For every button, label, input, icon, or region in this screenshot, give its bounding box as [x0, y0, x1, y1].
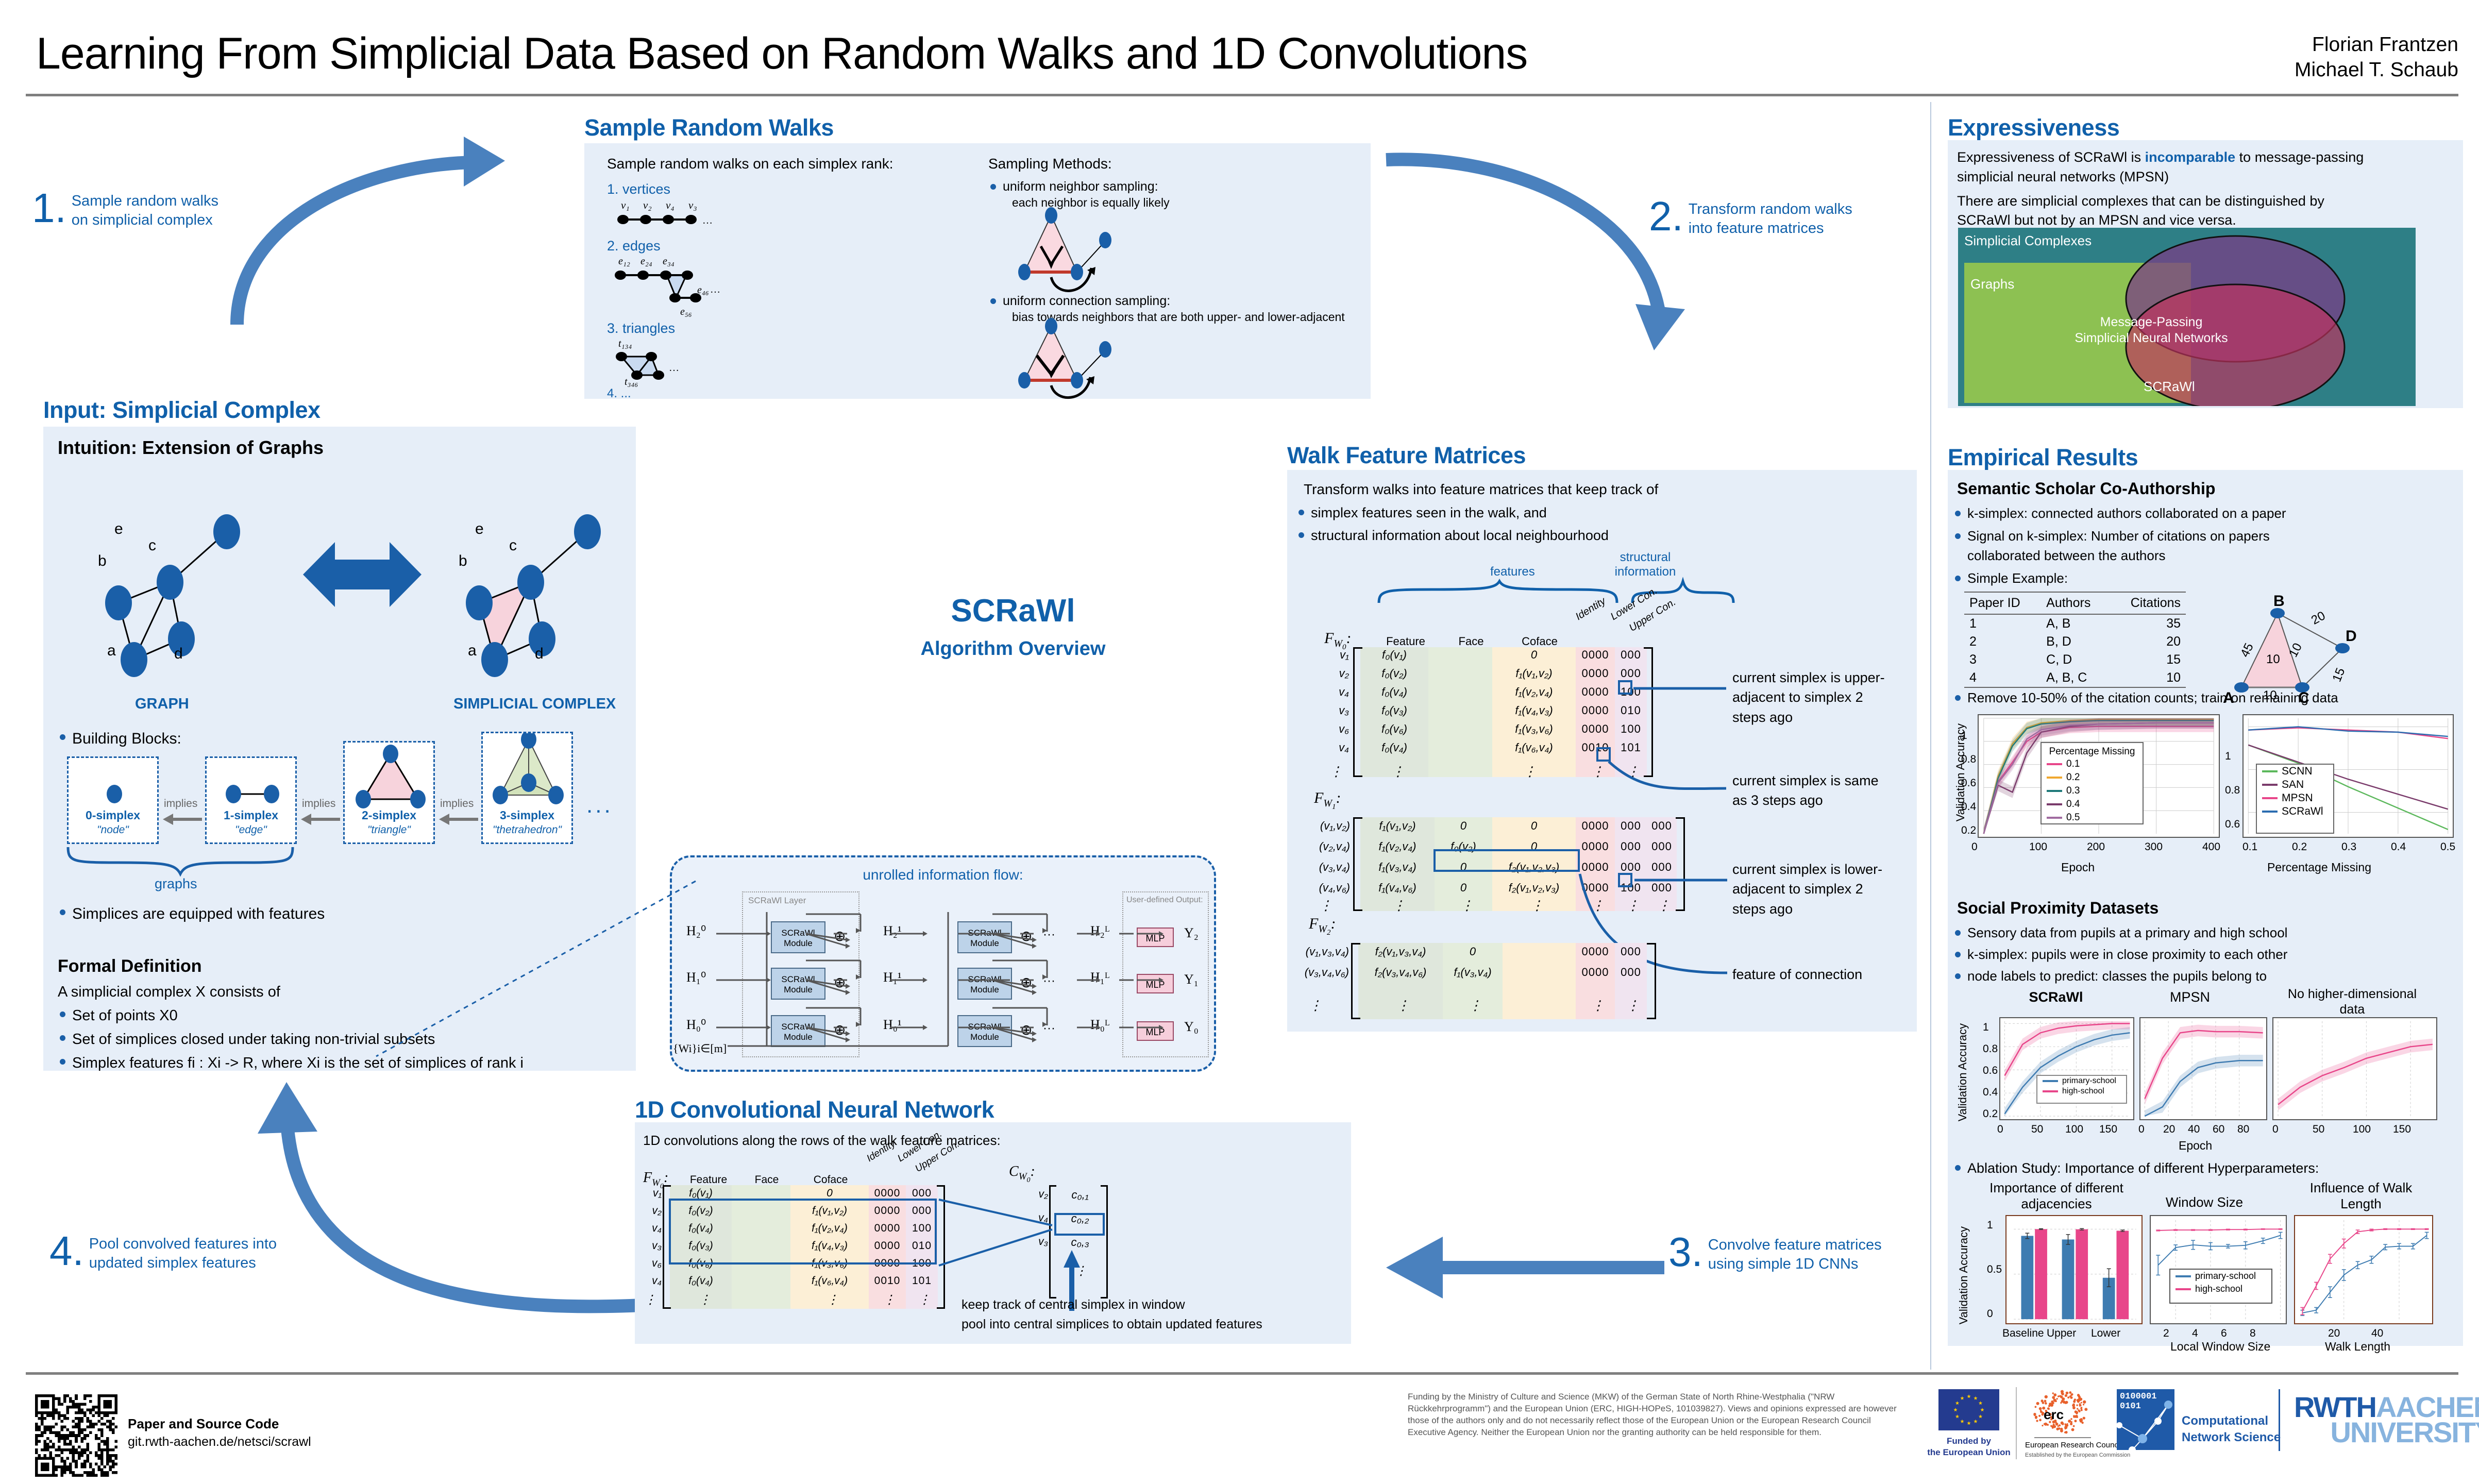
- graph-node-a: a: [107, 642, 116, 660]
- block-2-label: 2-simplex: [345, 808, 433, 822]
- chart-social-mpsn: [2139, 1017, 2267, 1120]
- eu-logo-label: Funded by the European Union: [1927, 1436, 2011, 1458]
- legend-item: 0.3: [2042, 784, 2143, 798]
- empirical-results-title: Empirical Results: [1948, 444, 2138, 471]
- chart1-ytick: 0.6: [1961, 777, 1976, 789]
- chart2-xtick: 0.4: [2391, 841, 2406, 853]
- fw0-vdots: ⋮: [1391, 764, 1402, 780]
- cnn-col-coface: Coface: [798, 1174, 864, 1186]
- social-panel-title-mpsn: MPSN: [2138, 989, 2241, 1005]
- cns-bits: 0100001 0101: [2120, 1392, 2156, 1411]
- fw1-row-label: (v₂,v₄): [1288, 840, 1350, 853]
- legend-item: high-school: [2170, 1283, 2271, 1295]
- chart2-xtick: 0.1: [2242, 841, 2257, 853]
- srw-rank-2: 2. edges: [607, 237, 661, 256]
- brand-subtitle: Algorithm Overview: [858, 638, 1168, 660]
- fw1-cell-lower: 000: [1615, 819, 1647, 833]
- table-cell: 10: [2110, 669, 2186, 687]
- expr-text-a: Expressiveness of SCRaWl is: [1957, 149, 2145, 165]
- chart3-legend: primary-schoolhigh-school: [2036, 1075, 2127, 1104]
- page-title: Learning From Simplicial Data Based on R…: [36, 28, 1527, 79]
- social-xlabel: Epoch: [2179, 1139, 2212, 1153]
- legend-item: MPSN: [2257, 791, 2333, 805]
- ablation-title-window: Window Size: [2143, 1194, 2266, 1210]
- cnn-note-2: pool into central simplices to obtain up…: [962, 1316, 1262, 1333]
- fw1-callout-2: feature of connection: [1732, 965, 1918, 984]
- chart-ablation-adjacency: [2005, 1215, 2143, 1324]
- chart1-xtick: 0: [1971, 841, 1978, 853]
- cnn-vdots: ⋮: [827, 1292, 837, 1307]
- legend-label: 0.5: [2066, 812, 2080, 823]
- chart3-legend-items: primary-schoolhigh-school: [2037, 1076, 2126, 1097]
- chart1-ytick: 0.4: [1961, 801, 1976, 813]
- graphs-brace-label: graphs: [155, 876, 197, 892]
- vertex-label-v3: v₃: [688, 199, 697, 212]
- sc-node-d: d: [535, 645, 544, 663]
- fw1-row-label: (v₃,v₄): [1288, 861, 1350, 874]
- formal-definition-heading: Formal Definition: [58, 956, 202, 976]
- fw0-cell-coface: f₁(v₁,v₂): [1492, 667, 1576, 680]
- fw0-cell-feature: f₀(v₆): [1360, 722, 1428, 736]
- table-cell: 20: [2110, 633, 2186, 651]
- legend-item: 0.1: [2042, 757, 2143, 771]
- chart3-ytick: 0.6: [1983, 1065, 1998, 1077]
- edge-label-e12: e₁₂: [618, 256, 630, 267]
- fw0-cell-coface: f₁(v₆,v₄): [1492, 741, 1576, 754]
- chart6-xtick: Lower: [2091, 1327, 2120, 1340]
- implies-label-3: implies: [440, 798, 474, 810]
- legend-label: 0.2: [2066, 772, 2080, 783]
- block-0-alias: "node": [69, 824, 157, 836]
- chart1-xtick: 200: [2087, 841, 2105, 853]
- expressiveness-title: Expressiveness: [1948, 114, 2119, 141]
- table-body: 1A, B352B, D203C, D154A, B, C10: [1964, 614, 2186, 687]
- cnn-cell-upper: 000: [906, 1187, 938, 1200]
- features-bullet: Simplices are equipped with features: [58, 903, 325, 925]
- sc-node-e: e: [475, 520, 484, 538]
- legend-label: MPSN: [2282, 792, 2313, 804]
- chart4-xtick: 0: [2138, 1123, 2145, 1136]
- graph-node-b: b: [98, 552, 107, 570]
- author-2: Michael T. Schaub: [2295, 57, 2458, 82]
- fw0-cell-feature: f₀(v₄): [1360, 685, 1428, 699]
- authors: Florian Frantzen Michael T. Schaub: [2295, 32, 2458, 82]
- legend-swatch: [2176, 1288, 2191, 1290]
- sampling-method-1-desc: each neighbor is equally likely: [1012, 195, 1170, 210]
- cnn-vdots: ⋮: [918, 1292, 929, 1307]
- intuition-heading: Intuition: Extension of Graphs: [58, 437, 324, 459]
- flow-arrow-2: [1386, 144, 1706, 412]
- eu-flag: [1938, 1389, 1999, 1430]
- table-row: 4A, B, C10: [1964, 669, 2186, 687]
- chart5-xtick: 100: [2353, 1123, 2371, 1136]
- fw2-vdots: ⋮: [1469, 998, 1479, 1014]
- poster-root: Learning From Simplicial Data Based on R…: [0, 0, 2479, 1484]
- cnn-col-feature: Feature: [680, 1174, 737, 1186]
- chart7-xtick: 8: [2250, 1327, 2256, 1340]
- fw1-row-label: (v₄,v₆): [1288, 881, 1350, 895]
- cnn-note-1: keep track of central simplex in window: [962, 1296, 1185, 1313]
- fw0-cell-identity: 0000: [1576, 704, 1615, 717]
- chart1-xtick: 400: [2202, 841, 2220, 853]
- chart1-xtick: 300: [2145, 841, 2163, 853]
- footer-divider-2: [2279, 1389, 2280, 1451]
- chart4-xtick: 20: [2163, 1123, 2175, 1136]
- qr-title: Paper and Source Code: [128, 1416, 279, 1432]
- coauthor-node-B: B: [2273, 593, 2285, 610]
- chart2-xtick: 0.2: [2292, 841, 2307, 853]
- table-cell: 15: [2110, 651, 2186, 669]
- fw2-cell-face: f₁(v₃,v₄): [1443, 966, 1503, 979]
- fw1-cell-lower: 000: [1615, 840, 1647, 853]
- legend-item: SAN: [2257, 778, 2333, 791]
- legend-swatch: [2262, 770, 2278, 772]
- legend-label: SCNN: [2282, 765, 2313, 778]
- chart7-legend-items: primary-schoolhigh-school: [2170, 1270, 2271, 1295]
- chart5-xtick: 50: [2313, 1123, 2324, 1136]
- fw1-cell-face: 0: [1435, 819, 1492, 833]
- chart2-xtick: 0.3: [2341, 841, 2356, 853]
- fw1-cell-upper: 000: [1647, 840, 1677, 853]
- chart1-legend-items: 0.10.20.30.40.5: [2042, 757, 2143, 824]
- fw0-cell-identity: 0000: [1576, 722, 1615, 736]
- chart1-xtick: 100: [2029, 841, 2047, 853]
- chart1-ytick: 1: [1961, 730, 1967, 742]
- legend-item: 0.2: [2042, 771, 2143, 784]
- chart2-legend-items: SCNNSANMPSNSCRaWl: [2257, 765, 2333, 818]
- social-bullet-3: node labels to predict: classes the pupi…: [1953, 967, 2267, 986]
- fw0-callout-2: current simplex is same as 3 steps ago: [1732, 771, 1918, 811]
- author-1: Florian Frantzen: [2295, 32, 2458, 57]
- fw0-cell-coface: f₁(v₃,v₆): [1492, 722, 1576, 736]
- chart1-legend-title: Percentage Missing: [2042, 746, 2143, 757]
- wfm-intro: Transform walks into feature matrices th…: [1304, 480, 1658, 499]
- venn-mpsn-label: Message-Passing Simplicial Neural Networ…: [2059, 314, 2244, 347]
- edge-label-e34: e₃₄: [663, 256, 674, 267]
- fw0-rowdots: ⋮: [1329, 764, 1340, 780]
- fw0-cell-upper: 000: [1615, 667, 1647, 680]
- legend-swatch: [2047, 803, 2062, 805]
- dotted-connector: [361, 876, 701, 1072]
- chart6-xtick: Upper: [2047, 1327, 2076, 1340]
- triangle-walk-diagram: …: [612, 350, 715, 386]
- social-bullet-2: k-simplex: pupils were in close proximit…: [1953, 945, 2287, 965]
- legend-swatch: [2047, 763, 2062, 765]
- walk-feature-matrices-title: Walk Feature Matrices: [1287, 442, 1526, 469]
- chart2-legend: SCNNSANMPSNSCRaWl: [2256, 764, 2334, 834]
- semantic-scholar-heading: Semantic Scholar Co-Authorship: [1957, 479, 2215, 498]
- qr-code[interactable]: [35, 1394, 117, 1477]
- table-cell: 2: [1964, 633, 2041, 651]
- table-cell: 3: [1964, 651, 2041, 669]
- erc-sub: European Research Council: [2025, 1441, 2122, 1449]
- chart1-legend: Percentage Missing 0.10.20.30.40.5: [2040, 742, 2144, 824]
- erc-sub2: Established by the European Commission: [2025, 1452, 2130, 1458]
- chart2-ytick: 1: [2225, 750, 2231, 763]
- header-divider: [26, 94, 2458, 96]
- expr-text-b: to message-passing: [2235, 149, 2364, 165]
- block-1-alias: "edge": [207, 824, 295, 836]
- chart5-xtick: 150: [2393, 1123, 2411, 1136]
- matrix-fw2-name: FW2:: [1309, 915, 1336, 937]
- fw1-cell-coface: f₂(v₁,v₂,v₃): [1492, 881, 1576, 895]
- chart8-xtick: 20: [2328, 1327, 2340, 1340]
- chart2-xtick: 0.5: [2440, 841, 2455, 853]
- fw1-cell-upper: 000: [1647, 861, 1677, 874]
- table-cell: 1: [1964, 614, 2041, 633]
- chart8-xtick: 40: [2371, 1327, 2383, 1340]
- chart6-ytick: 0.5: [1987, 1263, 2002, 1276]
- footer-divider: [26, 1372, 2458, 1375]
- fw0-callout-1: current simplex is upper- adjacent to si…: [1732, 668, 1918, 727]
- table-row: 2B, D20: [1964, 633, 2186, 651]
- fw1-cell-feature: f₁(v₁,v₂): [1360, 819, 1435, 833]
- fw2-cell-feature: f₂(v₃,v₄,v₆): [1358, 966, 1443, 979]
- chart3-ytick: 0.2: [1983, 1108, 1998, 1120]
- sc-node-c: c: [509, 537, 517, 554]
- graph-node-c: c: [148, 537, 156, 554]
- rwth-logo: RWTHAACHEN UNIVERSITY: [2294, 1390, 2479, 1449]
- legend-swatch: [2047, 817, 2062, 819]
- block-3-label: 3-simplex: [483, 808, 571, 822]
- fw0-row-label: v₆: [1317, 722, 1349, 736]
- sc-node-a: a: [468, 642, 477, 660]
- social-proximity-heading: Social Proximity Datasets: [1957, 899, 2158, 918]
- legend-label: high-school: [2195, 1284, 2242, 1294]
- chart7-legend: primary-schoolhigh-school: [2169, 1269, 2272, 1304]
- fw0-cell-coface: f₁(v₄,v₃): [1492, 704, 1576, 717]
- legend-swatch: [2043, 1080, 2058, 1082]
- erc-logo-text: erc: [2044, 1407, 2064, 1423]
- implies-arrow-2: [301, 813, 341, 825]
- fw0-cell-feature: f₀(v₂): [1360, 667, 1428, 680]
- chart4-xtick: 60: [2213, 1123, 2224, 1136]
- cnn-cell-feature: f₀(v₄): [670, 1275, 732, 1287]
- fw0-col-coface: Coface: [1504, 635, 1576, 648]
- chart1-ytick: 0.8: [1961, 753, 1976, 766]
- coauthor-face-10: 10: [2266, 652, 2280, 667]
- ablation-title-walk: Influence of Walk Length: [2284, 1180, 2438, 1212]
- chart3-ytick: 0.8: [1983, 1043, 1998, 1055]
- uniform-connection-diagram: [1000, 324, 1154, 406]
- graph-node-d: d: [174, 645, 183, 663]
- cnn-vdots: ⋮: [699, 1292, 709, 1307]
- step-3-text: Convolve feature matrices using simple 1…: [1668, 1236, 1957, 1274]
- cnn-cell-coface: f₁(v₆,v₄): [790, 1275, 869, 1287]
- expressiveness-para-1c: simplicial neural networks (MPSN): [1957, 168, 2169, 187]
- fw0-row-label: v₃: [1317, 704, 1349, 717]
- fw1-cell-feature: f₁(v₃,v₄): [1360, 861, 1435, 874]
- chart2-ytick: 0.8: [2225, 784, 2240, 797]
- cnn-row-label: v₄: [632, 1222, 662, 1235]
- table-cell: 4: [1964, 669, 2041, 687]
- fw0-cell-feature: f₀(v₃): [1360, 704, 1428, 717]
- chart1-ytick: 0.2: [1961, 824, 1976, 837]
- brace-features-label: features: [1490, 565, 1535, 579]
- step-1-number: 1.: [32, 192, 66, 225]
- fw1-row-label: (v₁,v₂): [1288, 819, 1350, 833]
- fw1-cell-face: 0: [1435, 881, 1492, 895]
- ablation-bullet: Ablation Study: Importance of different …: [1953, 1158, 2319, 1178]
- chart1-xlabel: Epoch: [2061, 861, 2095, 874]
- implies-label-2: implies: [302, 798, 335, 810]
- brand-title: SCRaWl: [858, 593, 1168, 629]
- fw2-cell-face: 0: [1443, 945, 1503, 958]
- chart5-xtick: 0: [2272, 1123, 2279, 1136]
- chart-social-nohigh: [2272, 1017, 2437, 1120]
- edge-label-e24: e₂₄: [640, 256, 652, 267]
- coauthor-node-D: D: [2346, 628, 2357, 645]
- chart7-xtick: 2: [2163, 1327, 2169, 1340]
- semantic-bullet-3: Simple Example:: [1953, 569, 2068, 588]
- fw2-row-label: (v₃,v₄,v₆): [1272, 966, 1349, 979]
- chart6-ytick: 0: [1987, 1308, 1993, 1320]
- legend-swatch: [2262, 784, 2278, 786]
- chart3-ytick: 1: [1983, 1021, 1989, 1034]
- fw2-cell-identity: 0000: [1576, 945, 1615, 958]
- cnn-cell-feature: f₀(v₁): [670, 1187, 732, 1200]
- block-2-simplex: 2-simplex "triangle": [343, 741, 435, 844]
- vertex-walk-diagram: …: [616, 212, 724, 229]
- formal-intro: A simplicial complex X consists of: [58, 982, 280, 1002]
- chart7-xlabel: Local Window Size: [2170, 1340, 2270, 1354]
- social-bullet-1: Sensory data from pupils at a primary an…: [1953, 923, 2287, 943]
- fw2-stripe-coface: [1503, 943, 1576, 1019]
- chart3-xtick: 0: [1997, 1123, 2003, 1136]
- cnn-row-label: v₆: [632, 1257, 662, 1270]
- fw0-cell-identity: 0000: [1576, 667, 1615, 680]
- table-row: 3C, D15: [1964, 651, 2186, 669]
- chart3-xtick: 150: [2099, 1123, 2117, 1136]
- srw-rank-3: 3. triangles: [607, 319, 675, 338]
- expressiveness-para-1: Expressiveness of SCRaWl is incomparable…: [1957, 148, 2452, 167]
- cnn-row-label: v₂: [632, 1205, 662, 1217]
- cnn-out-value: c₀,₁: [1056, 1188, 1104, 1202]
- legend-item: SCRaWl: [2257, 805, 2333, 818]
- legend-swatch: [2043, 1090, 2058, 1092]
- remove-bullet: Remove 10-50% of the citation counts; tr…: [1953, 688, 2338, 708]
- svg-text:…: …: [669, 362, 679, 374]
- fw2-vdots: ⋮: [1626, 998, 1637, 1014]
- chart7-xtick: 4: [2192, 1327, 2198, 1340]
- vertex-label-v2: v₂: [643, 199, 652, 212]
- legend-item: SCNN: [2257, 765, 2333, 778]
- vertex-label-v1: v₁: [621, 199, 630, 212]
- legend-swatch: [2047, 790, 2062, 792]
- block-1-simplex: 1-simplex "edge": [205, 756, 297, 844]
- graph-node-e: e: [114, 520, 123, 538]
- fw0-stripe-face: [1428, 647, 1492, 777]
- fw1-cell-upper: 000: [1647, 819, 1677, 833]
- fw0-highlight-identity: [1596, 747, 1611, 762]
- fw0-cell-feature: f₀(v₄): [1360, 741, 1428, 754]
- fw2-vdots: ⋮: [1396, 998, 1407, 1014]
- svg-text:…: …: [702, 215, 713, 226]
- fw2-cell-lower: 000: [1615, 966, 1647, 979]
- step-3: 3. Convolve feature matrices using simpl…: [1668, 1236, 1957, 1274]
- fw1-cell-identity: 0000: [1576, 840, 1615, 853]
- table-header-row: Paper IDAuthorsCitations: [1964, 592, 2186, 614]
- chart3-xtick: 50: [2031, 1123, 2043, 1136]
- triangle-label-t134: t₁₃₄: [618, 338, 632, 350]
- chart6-xtick: Baseline: [2002, 1327, 2044, 1340]
- sampling-method-2: uniform connection sampling:: [988, 292, 1170, 310]
- qr-url[interactable]: git.rwth-aachen.de/netsci/scrawl: [128, 1435, 311, 1449]
- fw0-row-label: v₄: [1317, 685, 1349, 699]
- implies-arrow-3: [439, 813, 479, 825]
- cnn-cell-coface: 0: [790, 1187, 869, 1200]
- fw2-cell-feature: f₂(v₁,v₃,v₄): [1358, 945, 1443, 958]
- expressiveness-para-2: There are simplicial complexes that can …: [1957, 192, 2324, 230]
- cnn-title: 1D Convolutional Neural Network: [635, 1097, 994, 1123]
- fw0-row-label: v₂: [1317, 667, 1349, 680]
- legend-swatch: [2176, 1275, 2191, 1277]
- fw0-col-feature: Feature: [1375, 635, 1437, 648]
- legend-label: 0.3: [2066, 785, 2080, 797]
- implies-label-1: implies: [164, 798, 197, 810]
- cnn-cell-identity: 0000: [869, 1187, 906, 1200]
- cnn-cell-upper: 101: [906, 1275, 938, 1287]
- flow-wires: [670, 891, 1216, 1061]
- ablation-ylabel: Validation Accuracy: [1957, 1226, 1970, 1324]
- table-header: Authors: [2041, 592, 2110, 614]
- social-ylabel: Validation Accuracy: [1956, 1023, 1969, 1121]
- cnn-row-label: v₁: [632, 1187, 662, 1200]
- legend-label: primary-school: [2195, 1271, 2256, 1281]
- simplicial-complex-caption: SIMPLICIAL COMPLEX: [453, 696, 616, 713]
- fw1-vdots: ⋮: [1530, 898, 1541, 914]
- funding-text: Funding by the Ministry of Culture and S…: [1408, 1391, 1902, 1439]
- step-4-number: 4.: [49, 1235, 84, 1268]
- fw1-cell-identity: 0000: [1576, 861, 1615, 874]
- footer-divider-1: [2016, 1387, 2017, 1459]
- right-column-divider: [1930, 102, 1931, 1370]
- flow-arrow-3: [1376, 1226, 1685, 1309]
- table-header: Citations: [2110, 592, 2186, 614]
- blocks-ellipsis: ...: [586, 792, 613, 818]
- table-row: 1A, B35: [1964, 614, 2186, 633]
- formal-bullet-1: Set of points X0: [58, 1005, 178, 1026]
- srw-intro: Sample random walks on each simplex rank…: [607, 155, 893, 174]
- fw0-vdots: ⋮: [1591, 764, 1601, 780]
- expr-highlight: incomparable: [2145, 149, 2236, 165]
- block-3-alias: "thetrahedron": [483, 824, 571, 836]
- fw0-cell-identity: 0000: [1576, 685, 1615, 699]
- legend-item: 0.4: [2042, 798, 2143, 811]
- legend-label: SCRaWl: [2282, 805, 2323, 818]
- cnn-vdots: ⋮: [883, 1292, 893, 1307]
- block-1-label: 1-simplex: [207, 808, 295, 822]
- legend-item: 0.5: [2042, 811, 2143, 824]
- eu-stars-icon: [1938, 1389, 1999, 1430]
- chart7-xtick: 6: [2221, 1327, 2227, 1340]
- chart4-xtick: 40: [2188, 1123, 2200, 1136]
- cnn-window-highlight: [669, 1199, 937, 1264]
- chart3-xtick: 100: [2065, 1123, 2083, 1136]
- ablation-title-adjacencies: Importance of different adjacencies: [1987, 1180, 2126, 1212]
- cnn-row-label: v₃: [632, 1240, 662, 1252]
- legend-item: primary-school: [2170, 1270, 2271, 1283]
- cnn-col-face: Face: [742, 1174, 791, 1186]
- legend-swatch: [2262, 811, 2278, 813]
- fw0-cell-upper: 000: [1615, 648, 1647, 662]
- fw0-cell-coface: 0: [1492, 648, 1576, 662]
- fw1-cell-coface: 0: [1492, 819, 1576, 833]
- flow-arrow-1: [206, 129, 526, 335]
- fw1-cell-identity: 0000: [1576, 819, 1615, 833]
- fw1-cell-feature: f₁(v₄,v₆): [1360, 881, 1435, 895]
- legend-label: high-school: [2062, 1087, 2104, 1096]
